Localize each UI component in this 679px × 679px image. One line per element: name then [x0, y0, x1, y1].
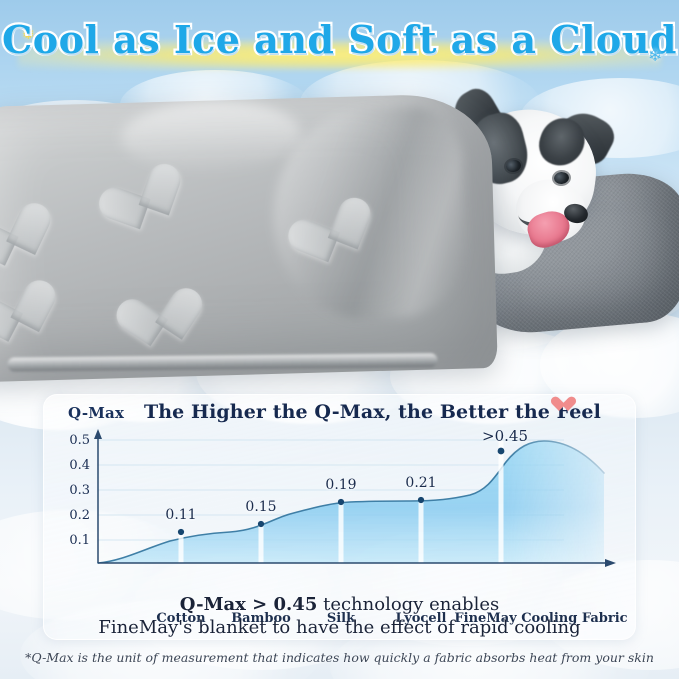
chart-title: The Higher the Q-Max, the Better the Fee… — [144, 401, 564, 423]
hero-photo — [0, 70, 679, 390]
heart-icon — [550, 397, 567, 413]
heart-quilt-pattern — [0, 210, 38, 284]
footnote: *Q-Max is the unit of measurement that i… — [0, 650, 679, 665]
heart-quilt-pattern — [0, 286, 41, 358]
data-point-label: >0.45 — [482, 427, 528, 445]
chart-plot-area: 0.5 0.4 0.3 0.2 0.1 — [44, 429, 637, 574]
page-title: Cool as Ice and Soft as a Cloud — [0, 17, 679, 62]
heart-quilt-pattern — [111, 293, 183, 360]
promo-image: ❅ Cool as Ice and Soft as a Cloud ❄ — [0, 0, 679, 679]
chart-card: Q-Max The Higher the Q-Max, the Better t… — [43, 394, 636, 640]
blanket-fold-top — [120, 98, 302, 173]
cooling-blanket — [0, 93, 498, 382]
chart-area-series — [98, 441, 604, 563]
chart-caption: Q-Max > 0.45 technology enables FineMay'… — [44, 593, 635, 639]
heart-quilt-pattern — [92, 172, 172, 249]
chart-svg — [44, 429, 637, 589]
headline-banner: ❅ Cool as Ice and Soft as a Cloud ❄ — [0, 0, 679, 86]
caption-line-2: FineMay's blanket to have the effect of … — [44, 616, 635, 639]
chart-y-axis — [94, 429, 102, 563]
y-tick-label: 0.2 — [60, 508, 90, 523]
chart-y-axis-title: Q-Max — [68, 404, 124, 422]
y-tick-label: 0.4 — [60, 458, 90, 473]
data-point-label: 0.15 — [245, 499, 276, 515]
data-point-label: 0.19 — [325, 477, 356, 493]
snowflake-icon: ❄ — [648, 47, 662, 64]
blanket-hem — [7, 353, 437, 372]
y-tick-label: 0.5 — [60, 433, 90, 448]
data-point-label: 0.21 — [405, 475, 436, 491]
caption-line-1: Q-Max > 0.45 technology enables — [44, 593, 635, 616]
caption-qmax-value: Q-Max > 0.45 — [180, 594, 318, 615]
y-tick-label: 0.1 — [60, 533, 90, 548]
data-point-label: 0.11 — [165, 507, 196, 523]
caption-line-1-rest: technology enables — [317, 594, 499, 615]
y-tick-label: 0.3 — [60, 483, 90, 498]
